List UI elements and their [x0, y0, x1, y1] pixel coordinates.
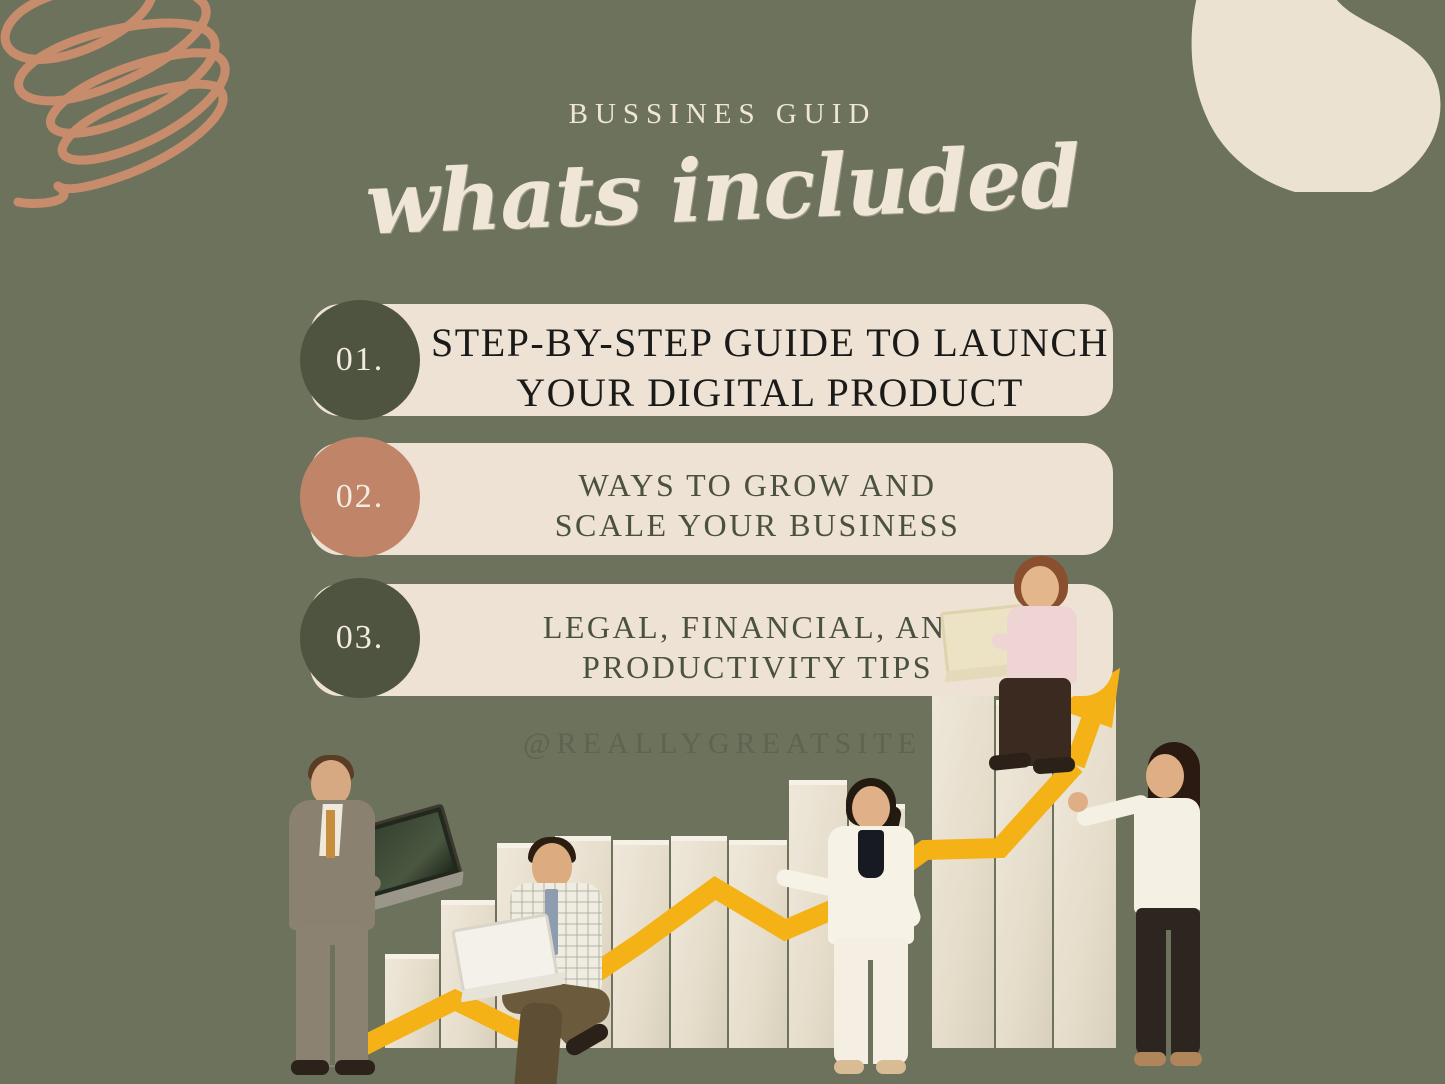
person-woman-white-suit: [820, 778, 924, 1078]
person-woman-sitting-on-bar: [985, 562, 1095, 772]
chart-bar: [613, 840, 669, 1048]
list-item-text-2: WAYS TO GROW AND SCALE YOUR BUSINESS: [390, 466, 1125, 545]
person-man-sitting-with-laptop: [498, 835, 618, 1084]
poster-canvas: BUSSINES GUID whats included: [0, 0, 1445, 1084]
chart-bar: [671, 836, 727, 1048]
chart-bar: [385, 954, 439, 1048]
list-item-text-1: STEP-BY-STEP GUIDE TO LAUNCH YOUR DIGITA…: [400, 318, 1140, 417]
person-woman-pushing-arrow: [1106, 740, 1206, 1080]
watermark-handle: @REALLYGREATSITE: [0, 727, 1445, 761]
person-businessman-holding-laptop: [277, 760, 387, 1080]
page-title: whats included: [0, 112, 1445, 268]
